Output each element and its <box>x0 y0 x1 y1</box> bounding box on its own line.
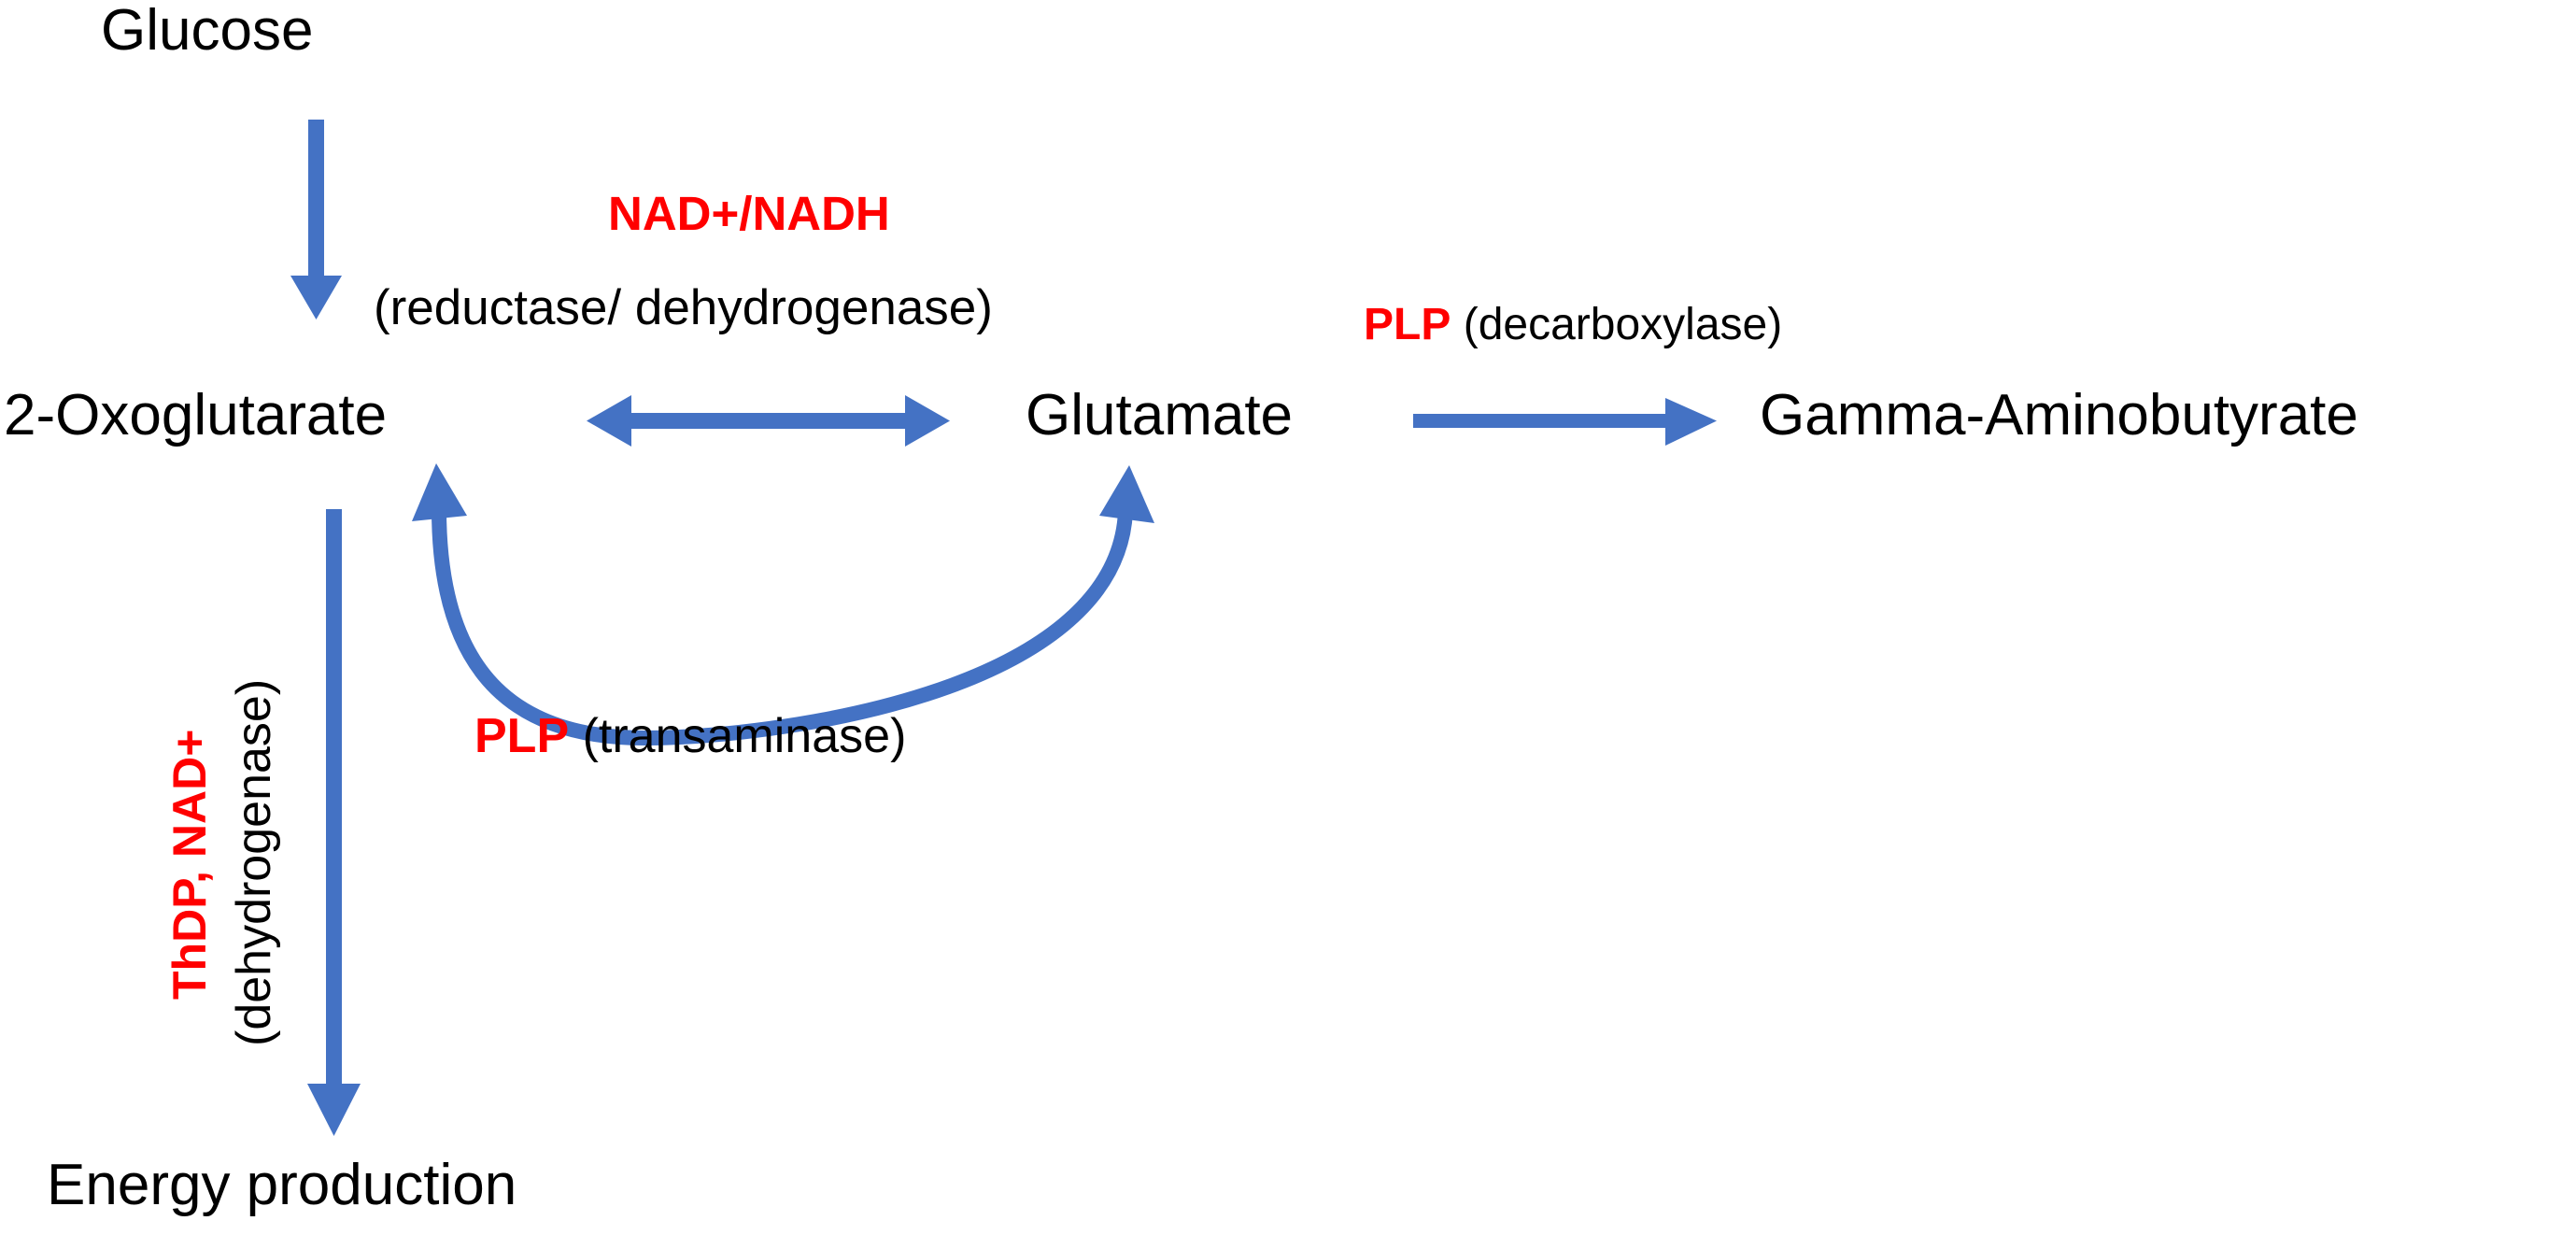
node-label-energy-production: Energy production <box>47 1157 517 1214</box>
arrow-layer <box>0 0 2576 1235</box>
cofactor-plp-transaminase-agent: PLP <box>474 709 569 763</box>
node-label-glutamate: Glutamate <box>1026 387 1293 445</box>
node-label-oxoglutarate: 2-Oxoglutarate <box>4 387 387 445</box>
cofactor-thdp-nad: ThDP, NAD+ <box>166 730 213 1000</box>
spacer-decarboxylase <box>1451 300 1463 349</box>
pathway-diagram-canvas: Glucose 2-Oxoglutarate Glutamate Gamma-A… <box>0 0 2576 1235</box>
node-label-glucose: Glucose <box>101 2 313 60</box>
arrow-transamination-curve <box>412 463 1154 738</box>
arrow-oxoglutarate-glutamate-double <box>587 395 950 447</box>
arrow-glucose-to-oxoglutarate <box>290 120 342 319</box>
spacer-transaminase <box>569 709 582 763</box>
cofactor-thdp-nad-text: ThDP, NAD+ <box>163 730 216 1000</box>
enzyme-dehydrogenase-text: (dehydrogenase) <box>227 679 281 1046</box>
enzyme-reductase-dehydrogenase-text: (reductase/ dehydrogenase) <box>374 280 993 335</box>
cofactor-nad-pair: NAD+/NADH <box>608 190 890 237</box>
arrow-oxoglutarate-to-energy <box>307 509 361 1136</box>
cofactor-nad-pair-text: NAD+/NADH <box>608 187 890 240</box>
enzyme-transaminase-text: (transaminase) <box>583 709 907 763</box>
enzyme-dehydrogenase: (dehydrogenase) <box>230 679 278 1046</box>
cofactor-plp-decarboxylase-agent: PLP <box>1364 300 1451 349</box>
enzyme-decarboxylase-text: (decarboxylase) <box>1464 300 1782 349</box>
cofactor-plp-transaminase: PLP (transaminase) <box>474 712 906 760</box>
cofactor-plp-decarboxylase: PLP (decarboxylase) <box>1364 303 1782 348</box>
enzyme-reductase-dehydrogenase: (reductase/ dehydrogenase) <box>374 283 993 333</box>
node-label-gamma-aminobutyrate: Gamma-Aminobutyrate <box>1760 387 2358 445</box>
arrow-glutamate-to-gaba <box>1413 398 1717 446</box>
